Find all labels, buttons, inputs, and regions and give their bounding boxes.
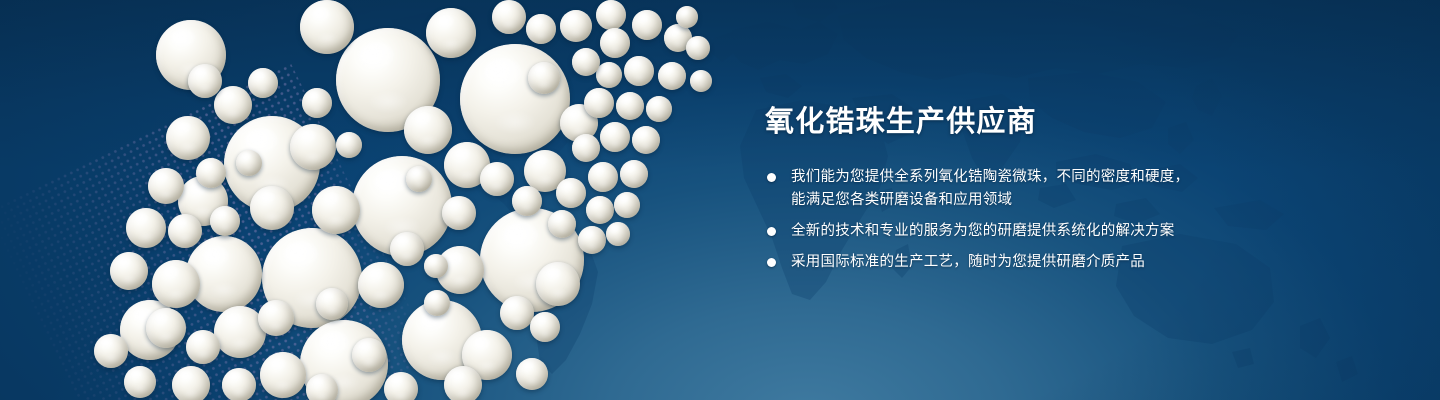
list-item-line: 我们能为您提供全系列氧化锆陶瓷微珠，不同的密度和硬度， (791, 166, 1283, 189)
list-item-line: 全新的技术和专业的服务为您的研磨提供系统化的解决方案 (791, 220, 1283, 243)
bullet-dot-icon (767, 258, 776, 267)
list-item: 全新的技术和专业的服务为您的研磨提供系统化的解决方案 (763, 220, 1283, 243)
bullet-dot-icon (767, 227, 776, 236)
list-item-line: 采用国际标准的生产工艺，随时为您提供研磨介质产品 (791, 251, 1283, 274)
bullet-dot-icon (767, 173, 776, 182)
list-item: 采用国际标准的生产工艺，随时为您提供研磨介质产品 (763, 251, 1283, 274)
banner-text-block: 氧化锆珠生产供应商 我们能为您提供全系列氧化锆陶瓷微珠，不同的密度和硬度， 能满… (763, 104, 1283, 274)
hero-banner: 氧化锆珠生产供应商 我们能为您提供全系列氧化锆陶瓷微珠，不同的密度和硬度， 能满… (0, 0, 1440, 400)
list-item: 我们能为您提供全系列氧化锆陶瓷微珠，不同的密度和硬度， 能满足您各类研磨设备和应… (763, 166, 1283, 212)
list-item-line: 能满足您各类研磨设备和应用领域 (791, 189, 1283, 212)
page-title: 氧化锆珠生产供应商 (765, 104, 1283, 140)
feature-list: 我们能为您提供全系列氧化锆陶瓷微珠，不同的密度和硬度， 能满足您各类研磨设备和应… (763, 166, 1283, 274)
